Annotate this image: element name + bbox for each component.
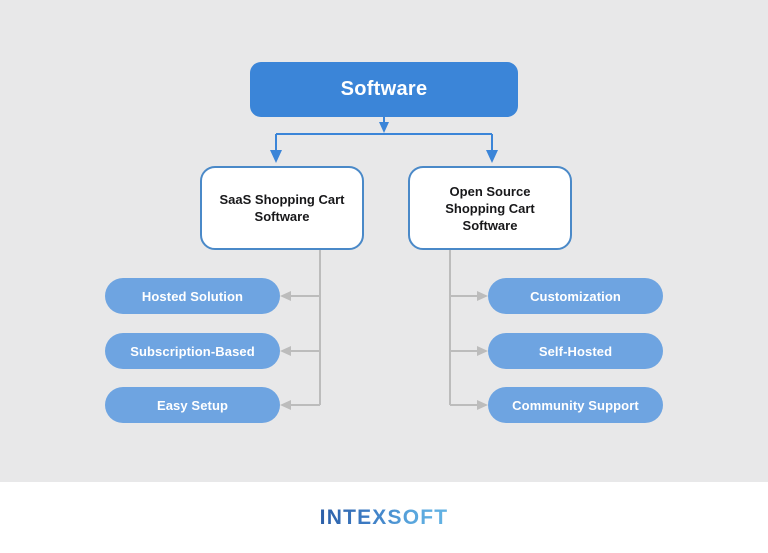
leaf-community-support[interactable]: Community Support bbox=[488, 387, 663, 423]
leaf-community-support-label: Community Support bbox=[512, 398, 639, 413]
connector-root-stem bbox=[379, 117, 389, 133]
leaf-hosted-solution-label: Hosted Solution bbox=[142, 289, 243, 304]
diagram-canvas: Software SaaS Shopping Cart Software Ope… bbox=[0, 0, 768, 553]
intexsoft-logo: INTEXSOFT bbox=[0, 482, 768, 553]
intexsoft-logo-text: INTEXSOFT bbox=[320, 506, 449, 530]
connector-open-source-branch bbox=[446, 241, 489, 411]
connector-root-split bbox=[270, 134, 498, 163]
leaf-self-hosted[interactable]: Self-Hosted bbox=[488, 333, 663, 369]
leaf-self-hosted-label: Self-Hosted bbox=[539, 344, 612, 359]
connector-saas-branch bbox=[280, 241, 325, 411]
leaf-subscription-based-label: Subscription-Based bbox=[130, 344, 255, 359]
leaf-customization[interactable]: Customization bbox=[488, 278, 663, 314]
leaf-easy-setup-label: Easy Setup bbox=[157, 398, 228, 413]
node-open-source-shopping-cart-software[interactable]: Open Source Shopping Cart Software bbox=[408, 166, 572, 250]
node-saas-label: SaaS Shopping Cart Software bbox=[202, 191, 362, 225]
node-software-root[interactable]: Software bbox=[250, 62, 518, 117]
leaf-customization-label: Customization bbox=[530, 289, 621, 304]
leaf-subscription-based[interactable]: Subscription-Based bbox=[105, 333, 280, 369]
node-saas-shopping-cart-software[interactable]: SaaS Shopping Cart Software bbox=[200, 166, 364, 250]
node-open-source-label: Open Source Shopping Cart Software bbox=[410, 183, 570, 234]
leaf-hosted-solution[interactable]: Hosted Solution bbox=[105, 278, 280, 314]
node-software-label: Software bbox=[341, 78, 428, 101]
leaf-easy-setup[interactable]: Easy Setup bbox=[105, 387, 280, 423]
